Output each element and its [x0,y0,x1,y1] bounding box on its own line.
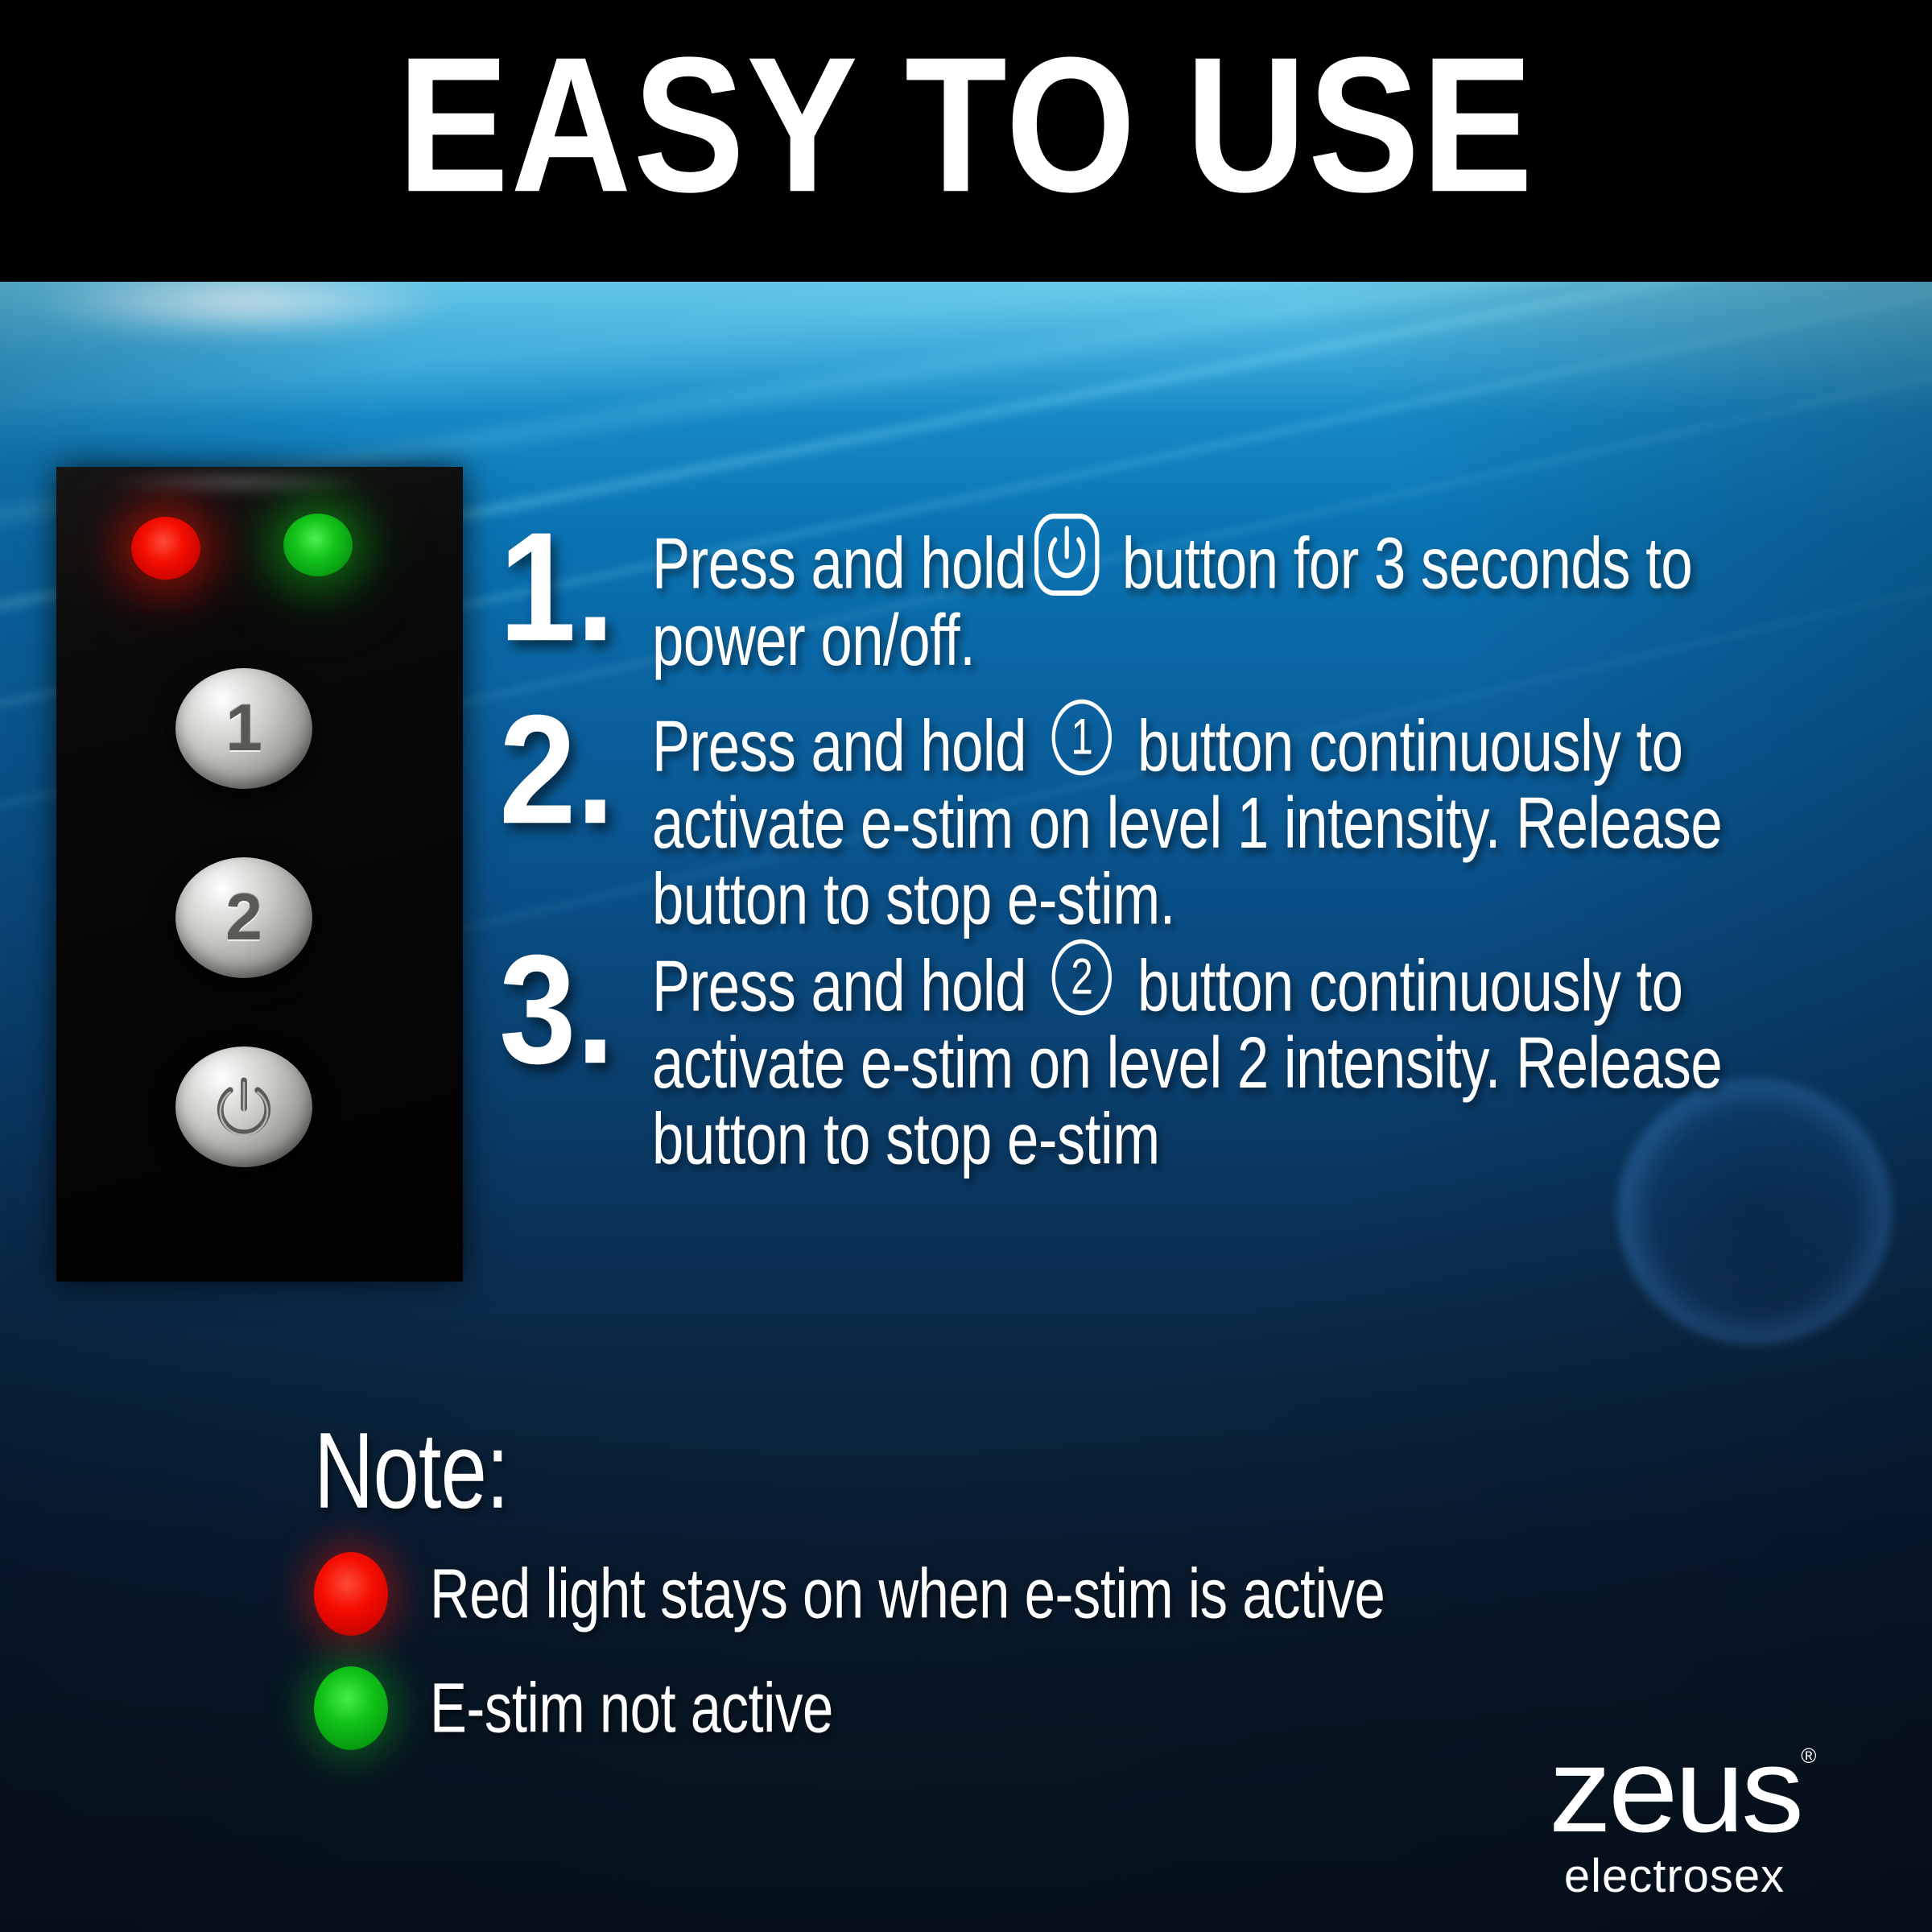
note-row: Red light stays on when e-stim is active [314,1552,1843,1636]
red-dot-icon [314,1552,388,1636]
logo-tagline: electrosex [1481,1853,1868,1900]
infographic-canvas: EASY TO USE 1 2 1. Press [0,0,1932,1932]
step-text: Press and hold 1 button continuously to … [652,690,1827,939]
step-text-before: Press and hold [652,707,1026,787]
logo-wordmark: zeus [1549,1734,1801,1845]
power-icon [209,1072,279,1141]
step-item: 2. Press and hold 1 button continuously … [499,690,1916,901]
note-row-text: Red light stays on when e-stim is active [430,1557,1385,1631]
page-title: EASY TO USE [0,29,1932,221]
step-item: 1. Press and hold button for 3 seconds t… [499,507,1916,661]
green-dot-icon [314,1666,388,1750]
step-text: Press and hold button for 3 seconds to p… [652,507,1827,679]
device-button-1-label: 1 [225,696,262,762]
step-number: 1. [499,489,652,661]
device-button-2-label: 2 [225,885,262,951]
brand-logo: zeus ® electrosex [1481,1734,1868,1900]
svg-text:1: 1 [1071,709,1092,766]
red-led [131,517,200,580]
green-led [283,514,353,576]
device-button-power[interactable] [175,1046,312,1167]
power-icon [1032,511,1101,599]
circled-one-icon: 1 [1047,694,1117,782]
header-band: EASY TO USE [0,0,1932,282]
note-row-text: E-stim not active [430,1671,833,1745]
registered-mark-icon: ® [1801,1744,1816,1769]
logo-wordmark-wrap: zeus ® [1554,1734,1796,1845]
svg-text:2: 2 [1071,949,1092,1005]
note-section: Note: Red light stays on when e-stim is … [314,1417,1843,1750]
circled-two-icon: 2 [1047,934,1117,1022]
steps-list: 1. Press and hold button for 3 seconds t… [499,507,1916,1170]
device-sheen [105,472,370,493]
step-text-before: Press and hold [652,947,1026,1027]
step-text-before: Press and hold [652,524,1026,605]
step-item: 3. Press and hold 2 button continuously … [499,930,1916,1141]
step-number: 3. [499,911,652,1084]
step-number: 2. [499,671,652,844]
device-button-2[interactable]: 2 [175,857,312,978]
step-text: Press and hold 2 button continuously to … [652,930,1827,1179]
remote-control-panel: 1 2 [56,467,463,1282]
note-title: Note: [314,1417,1721,1525]
device-button-1[interactable]: 1 [175,668,312,789]
